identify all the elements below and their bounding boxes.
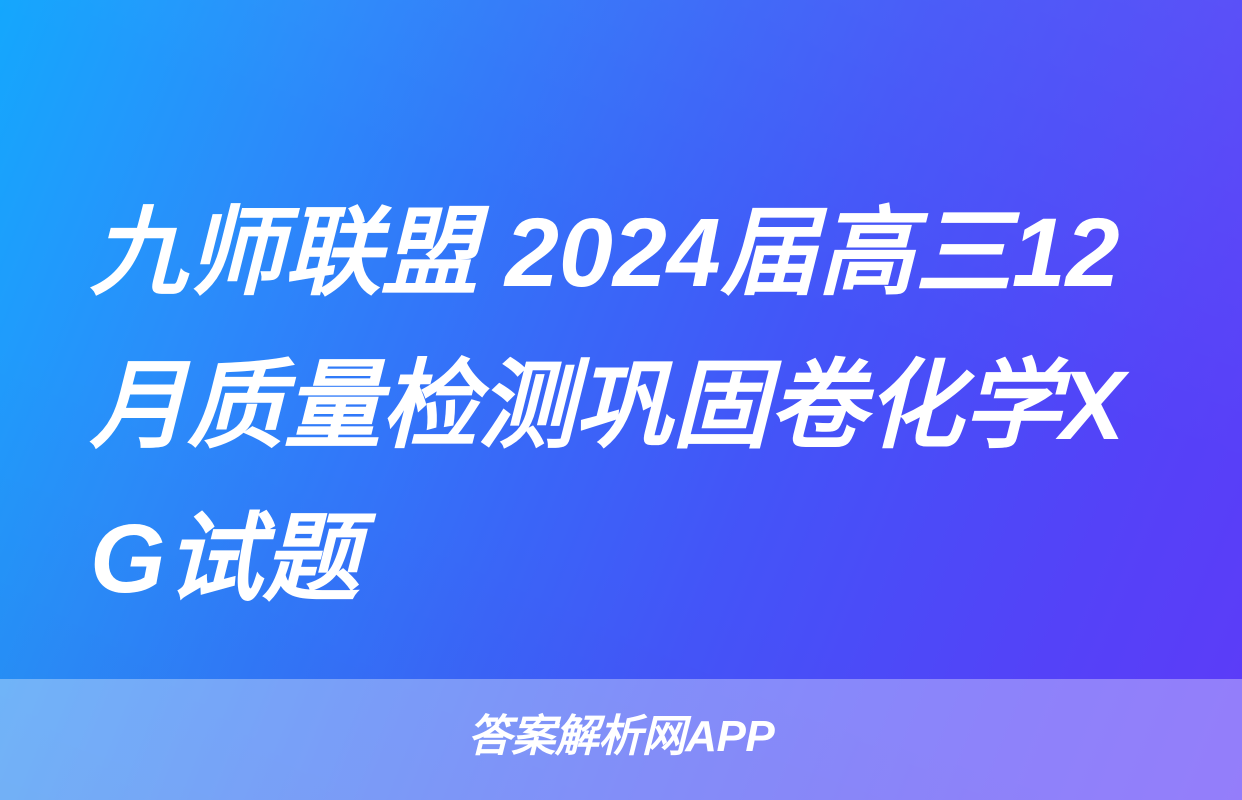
page-title: 九师联盟 2024届高三12月质量检测巩固卷化学XG试题 — [90, 176, 1152, 635]
watermark-label: 答案解析网APP — [468, 712, 774, 762]
watermark-container: 答案解析网APP — [0, 712, 1242, 762]
poster-canvas: 九师联盟 2024届高三12月质量检测巩固卷化学XG试题 答案解析网APP — [0, 0, 1242, 800]
poster-title-block: 九师联盟 2024届高三12月质量检测巩固卷化学XG试题 — [0, 176, 1242, 635]
